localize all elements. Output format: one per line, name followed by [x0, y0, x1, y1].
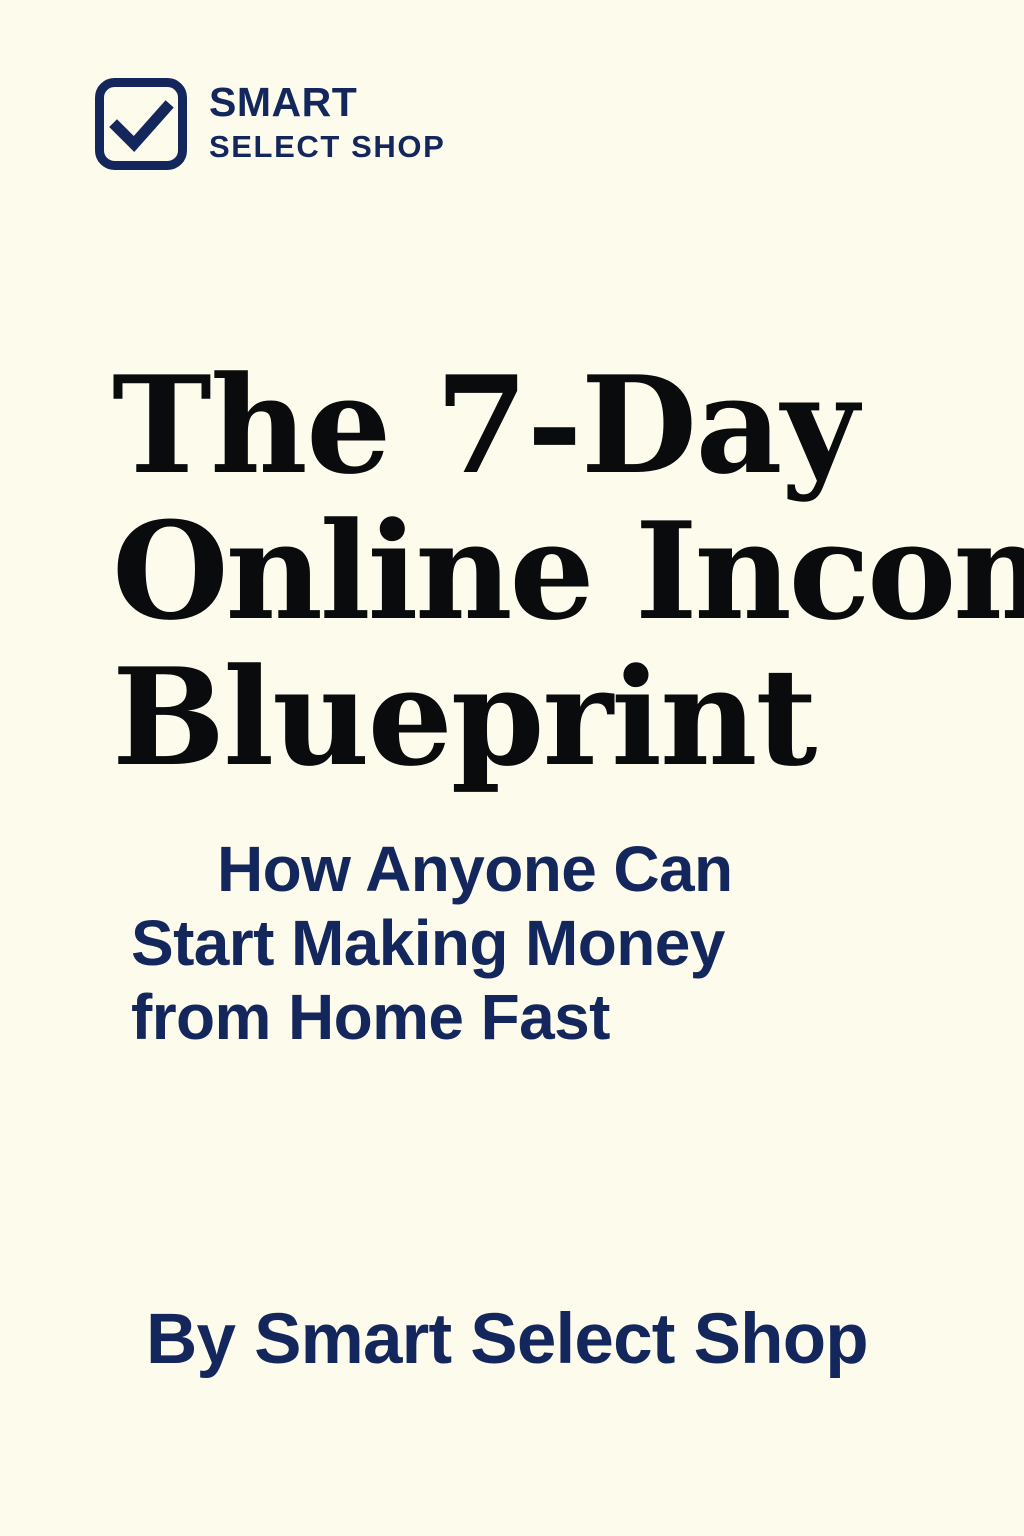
subtitle-line-1: How Anyone Can	[131, 832, 991, 906]
brand-lockup: SMART SELECT SHOP	[95, 78, 445, 170]
subtitle-line-3: from Home Fast	[131, 980, 991, 1054]
title-line-3: Blueprint	[112, 644, 1012, 790]
title-line-2: Online Income	[112, 498, 1012, 644]
brand-name-secondary: SELECT SHOP	[209, 128, 445, 165]
page-subtitle: How Anyone Can Start Making Money from H…	[131, 832, 991, 1054]
title-line-1: The 7-Day	[112, 352, 1012, 498]
subtitle-line-2: Start Making Money	[131, 906, 991, 980]
page-title: The 7-Day Online Income Blueprint	[112, 352, 1012, 790]
author-byline: By Smart Select Shop	[146, 1300, 868, 1380]
checkbox-check-icon	[95, 78, 187, 170]
brand-wordmark: SMART SELECT SHOP	[209, 81, 445, 167]
brand-name-primary: SMART	[209, 81, 445, 124]
book-cover: SMART SELECT SHOP The 7-Day Online Incom…	[0, 0, 1024, 1536]
